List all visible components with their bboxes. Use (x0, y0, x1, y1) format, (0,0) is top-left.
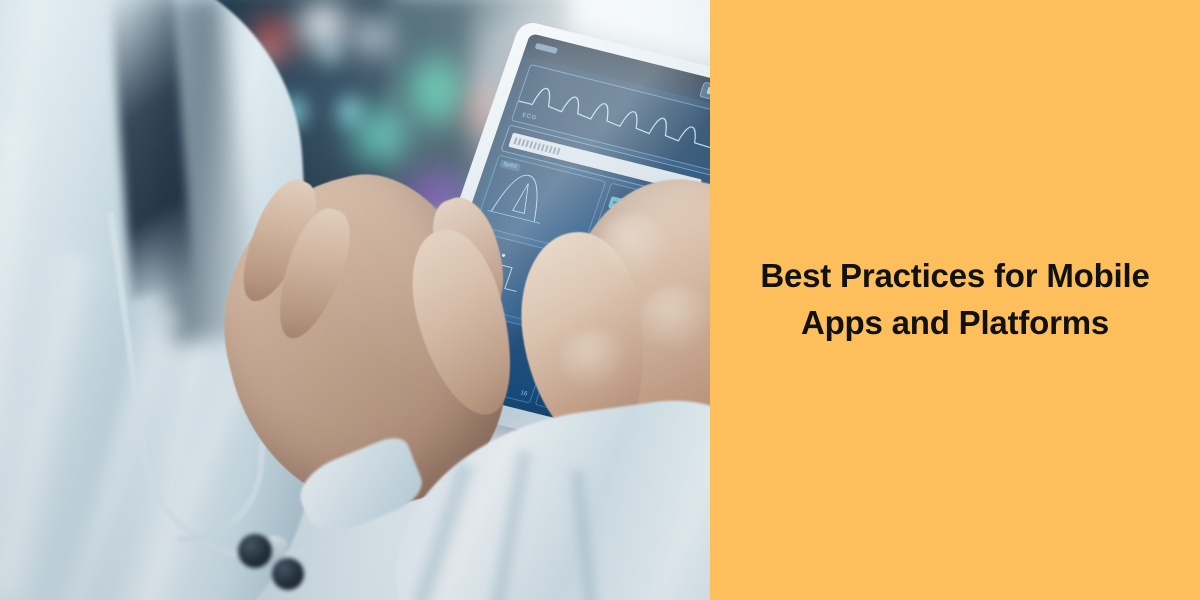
app-logo (535, 43, 558, 54)
knuckle-highlight (640, 286, 710, 352)
knuckle-highlight (600, 214, 670, 276)
knuckle-highlight (560, 330, 630, 390)
stethoscope-earpiece (238, 534, 272, 568)
stethoscope-earpiece (272, 558, 304, 590)
article-banner: ECG ⚲ SpO2 (0, 0, 1200, 600)
card-value: 16 (520, 390, 528, 397)
bokeh-light-white (300, 2, 346, 48)
bokeh-light-white (356, 20, 390, 54)
bokeh-light-green (408, 58, 466, 124)
panel-button[interactable] (699, 82, 710, 103)
bokeh-light-green (352, 106, 408, 164)
page-title: Best Practices for Mobile Apps and Platf… (745, 253, 1165, 347)
hero-photo: ECG ⚲ SpO2 (0, 0, 710, 600)
title-panel: Best Practices for Mobile Apps and Platf… (710, 0, 1200, 600)
